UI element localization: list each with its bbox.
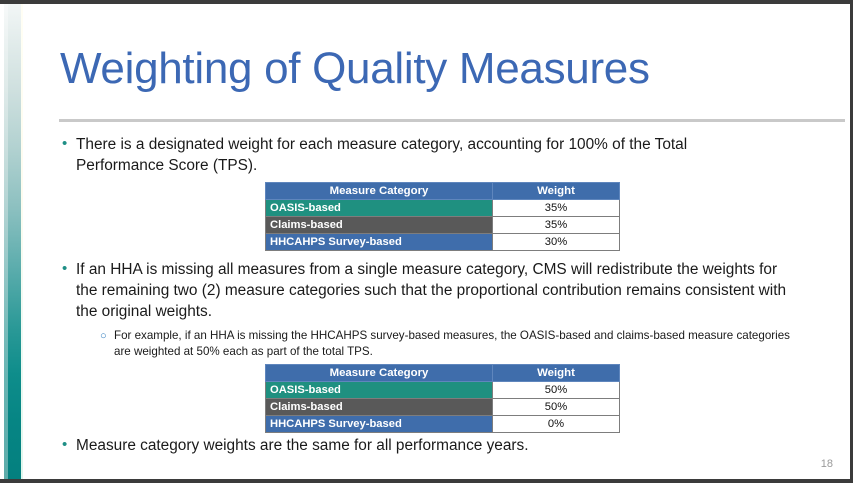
cell-category-hhcahps: HHCAHPS Survey-based <box>266 234 493 251</box>
column-header-weight: Weight <box>493 365 620 382</box>
table-row: HHCAHPS Survey-based 30% <box>266 234 620 251</box>
title-divider-rule <box>59 119 845 122</box>
bullet-dot-icon: • <box>62 259 76 279</box>
sub-bullet-text-1: For example, if an HHA is missing the HH… <box>114 328 800 360</box>
bullet-text-3: Measure category weights are the same fo… <box>76 435 529 456</box>
bullet-item-3: • Measure category weights are the same … <box>62 435 762 456</box>
cell-weight-claims: 50% <box>493 399 620 416</box>
bullet-item-1: • There is a designated weight for each … <box>62 134 762 176</box>
column-header-measure-category: Measure Category <box>266 365 493 382</box>
cell-category-hhcahps: HHCAHPS Survey-based <box>266 416 493 433</box>
column-header-weight: Weight <box>493 183 620 200</box>
slide-frame-top-edge <box>0 0 853 4</box>
slide-canvas: Weighting of Quality Measures • There is… <box>0 0 853 483</box>
cell-category-oasis: OASIS-based <box>266 382 493 399</box>
sub-bullet-item-1: ○ For example, if an HHA is missing the … <box>100 328 800 360</box>
cell-weight-claims: 35% <box>493 217 620 234</box>
left-accent-bar-edge-highlight <box>21 4 23 479</box>
table-row: OASIS-based 35% <box>266 200 620 217</box>
bullet-circle-icon: ○ <box>100 328 114 345</box>
bullet-text-1: There is a designated weight for each me… <box>76 134 762 176</box>
slide-frame-bottom-edge <box>0 479 853 483</box>
left-accent-bar-inner-highlight <box>4 4 8 479</box>
cell-weight-oasis: 50% <box>493 382 620 399</box>
cell-weight-hhcahps: 30% <box>493 234 620 251</box>
cell-category-claims: Claims-based <box>266 399 493 416</box>
table-weights-standard: Measure Category Weight OASIS-based 35% … <box>265 182 620 251</box>
cell-category-claims: Claims-based <box>266 217 493 234</box>
cell-weight-hhcahps: 0% <box>493 416 620 433</box>
page-number: 18 <box>821 458 833 470</box>
table-row: HHCAHPS Survey-based 0% <box>266 416 620 433</box>
table-row: OASIS-based 50% <box>266 382 620 399</box>
cell-weight-oasis: 35% <box>493 200 620 217</box>
bullet-dot-icon: • <box>62 134 76 154</box>
table-weights-redistributed: Measure Category Weight OASIS-based 50% … <box>265 364 620 433</box>
table-header-row: Measure Category Weight <box>266 365 620 382</box>
bullet-dot-icon: • <box>62 435 76 455</box>
bullet-item-2: • If an HHA is missing all measures from… <box>62 259 792 322</box>
table-header-row: Measure Category Weight <box>266 183 620 200</box>
cell-category-oasis: OASIS-based <box>266 200 493 217</box>
column-header-measure-category: Measure Category <box>266 183 493 200</box>
table-row: Claims-based 50% <box>266 399 620 416</box>
bullet-text-2: If an HHA is missing all measures from a… <box>76 259 792 322</box>
table-row: Claims-based 35% <box>266 217 620 234</box>
page-title: Weighting of Quality Measures <box>60 44 650 94</box>
